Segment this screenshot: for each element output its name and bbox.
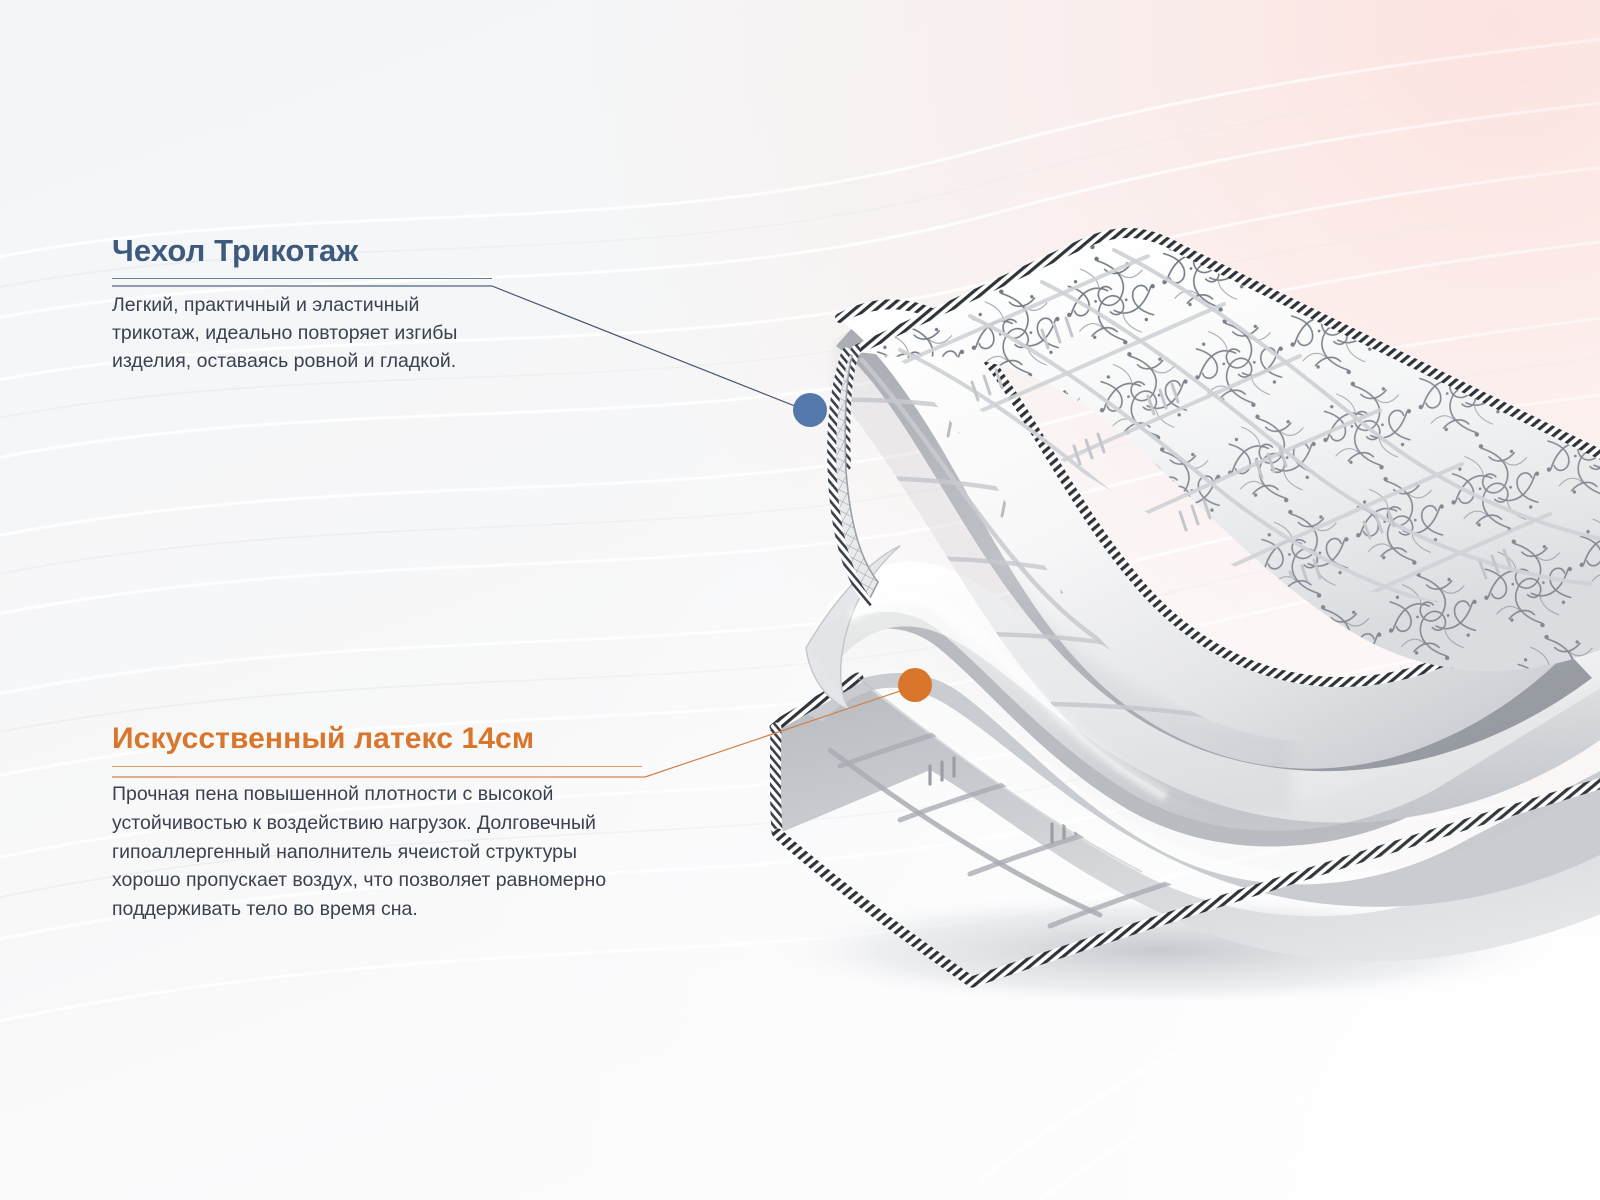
- cover-marker-dot[interactable]: [793, 393, 827, 427]
- callout-cover-title: Чехол Трикотаж: [112, 234, 492, 267]
- callout-latex-description: Прочная пена повышенной плотности с высо…: [112, 767, 642, 923]
- latex-marker-dot[interactable]: [898, 668, 932, 702]
- callout-latex-title: Искусственный латекс 14см: [112, 723, 642, 755]
- callout-cover-description: Легкий, практичный и эластичный трикотаж…: [112, 279, 492, 375]
- callout-latex: Искусственный латекс 14см Прочная пена п…: [112, 723, 642, 924]
- infographic-canvas: Чехол Трикотаж Легкий, практичный и элас…: [0, 0, 1600, 1200]
- callout-cover: Чехол Трикотаж Легкий, практичный и элас…: [112, 234, 492, 376]
- mattress-cutaway-illustration: [600, 210, 1600, 1000]
